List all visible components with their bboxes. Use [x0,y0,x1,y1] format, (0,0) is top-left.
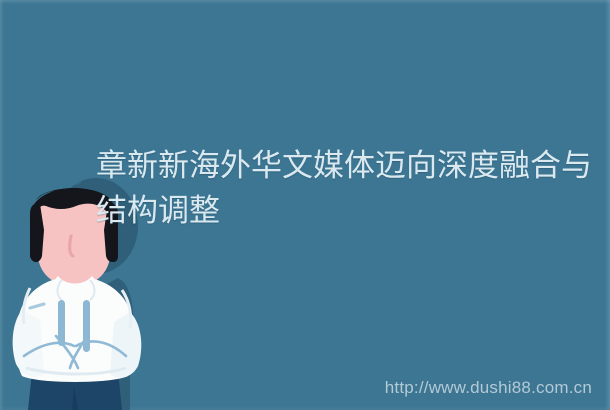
page-title: 章新新海外华文媒体迈向深度融合与结构调整 [96,143,601,233]
background-edge-top [0,0,610,4]
hoodie [13,276,142,382]
watermark-url: http://www.dushi88.com.cn [385,378,592,398]
background-edge-right [605,0,610,410]
article-cover-image: 章新新海外华文媒体迈向深度融合与结构调整 http://www.dushi88.… [0,0,610,410]
